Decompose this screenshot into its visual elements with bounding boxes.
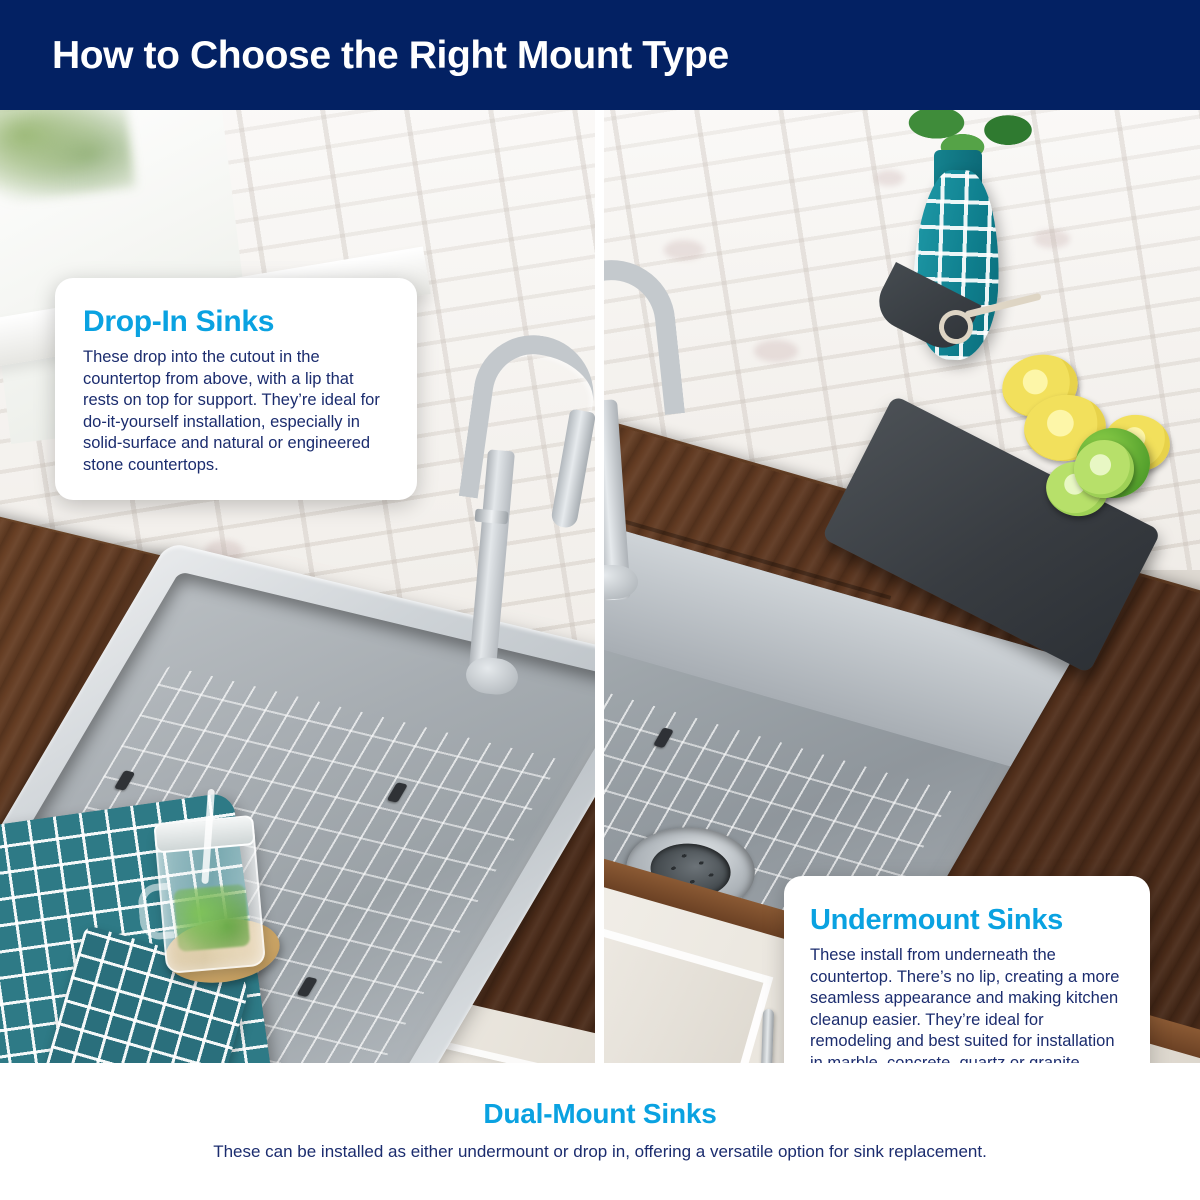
page-footer: Dual-Mount Sinks These can be installed …: [0, 1063, 1200, 1200]
page-title: How to Choose the Right Mount Type: [52, 33, 729, 79]
faucet-collar-left: [474, 509, 508, 525]
card-body-undermount: These install from underneath the counte…: [810, 945, 1122, 1063]
left-photo-panel: [0, 110, 595, 1063]
panel-divider: [595, 110, 604, 1063]
window-foliage: [0, 110, 136, 208]
page-header: How to Choose the Right Mount Type: [0, 0, 1200, 110]
card-undermount-sinks: Undermount Sinks These install from unde…: [784, 876, 1150, 1063]
footer-heading: Dual-Mount Sinks: [0, 1098, 1200, 1130]
card-drop-in-sinks: Drop-In Sinks These drop into the cutout…: [55, 278, 417, 500]
infographic-page: How to Choose the Right Mount Type: [0, 0, 1200, 1200]
mason-jar: [154, 821, 266, 974]
footer-body: These can be installed as either undermo…: [0, 1141, 1200, 1163]
card-heading-undermount: Undermount Sinks: [810, 902, 1122, 938]
card-heading-drop-in: Drop-In Sinks: [83, 304, 389, 340]
photo-stage: Drop-In Sinks These drop into the cutout…: [0, 110, 1200, 1063]
cabinet-panel-1: [604, 917, 773, 1063]
jar-mint-leaves: [173, 884, 250, 952]
card-body-drop-in: These drop into the cutout in the counte…: [83, 347, 389, 476]
